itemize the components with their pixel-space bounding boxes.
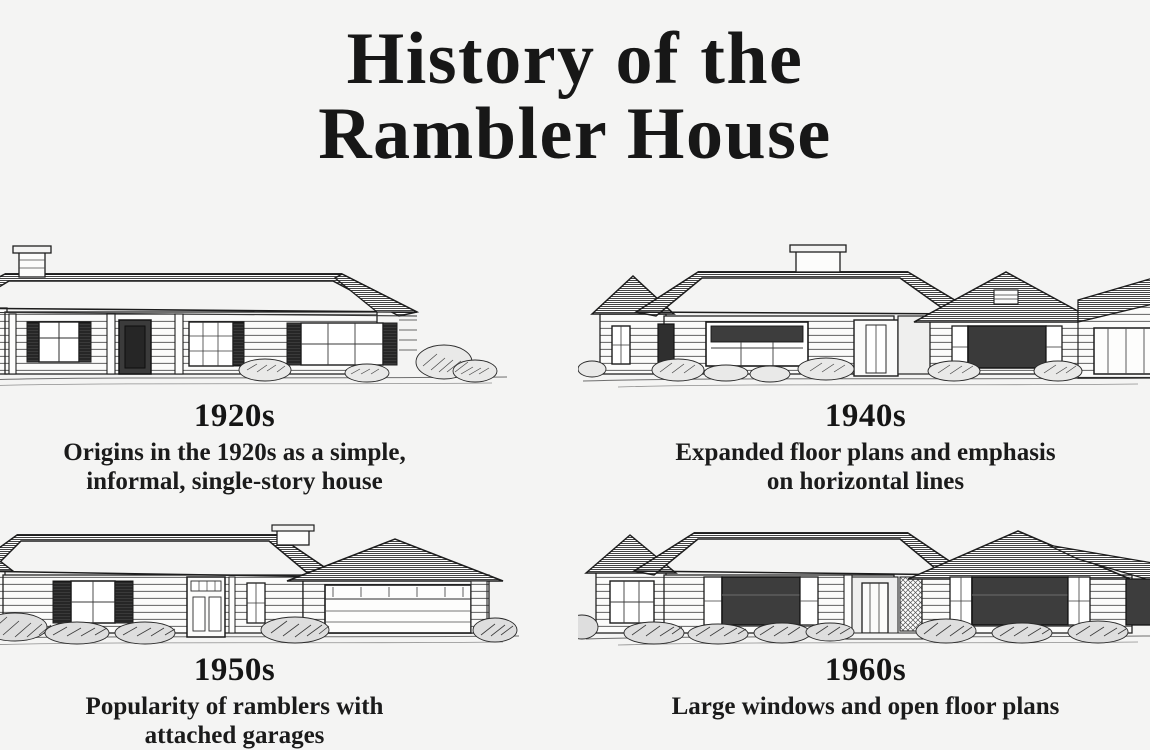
caption-1960s: 1960s Large windows and open floor plans	[578, 652, 1150, 721]
page-title-line-2: Rambler House	[0, 97, 1150, 172]
panel-1920s-illustration-wrap	[0, 238, 522, 398]
decade-label-1960s: 1960s	[578, 652, 1150, 690]
decade-description-1950s: Popularity of ramblers with attached gar…	[0, 692, 522, 750]
decade-label-1920s: 1920s	[0, 398, 522, 436]
decade-description-1920s: Origins in the 1920s as a simple, inform…	[0, 438, 522, 497]
page-title: History of the Rambler House	[0, 22, 1150, 173]
rambler-house-1960s-illustration	[578, 515, 1150, 655]
decade-description-1960s: Large windows and open floor plans	[578, 692, 1150, 722]
rambler-house-1920s-illustration	[0, 238, 522, 398]
panel-1960s-illustration-wrap	[578, 515, 1150, 655]
caption-1940s: 1940s Expanded floor plans and emphasis …	[578, 398, 1150, 497]
decade-description-1940s: Expanded floor plans and emphasis on hor…	[578, 438, 1150, 497]
caption-1950s: 1950s Popularity of ramblers with attach…	[0, 652, 522, 750]
decade-label-1940s: 1940s	[578, 398, 1150, 436]
decade-label-1950s: 1950s	[0, 652, 522, 690]
rambler-house-1940s-illustration	[578, 238, 1150, 398]
infographic-page: History of the Rambler House	[0, 0, 1150, 750]
page-title-line-1: History of the	[0, 22, 1150, 97]
caption-1920s: 1920s Origins in the 1920s as a simple, …	[0, 398, 522, 497]
panel-1950s-illustration-wrap	[0, 515, 522, 655]
panel-1940s-illustration-wrap	[578, 238, 1150, 398]
rambler-house-1950s-illustration	[0, 515, 522, 655]
